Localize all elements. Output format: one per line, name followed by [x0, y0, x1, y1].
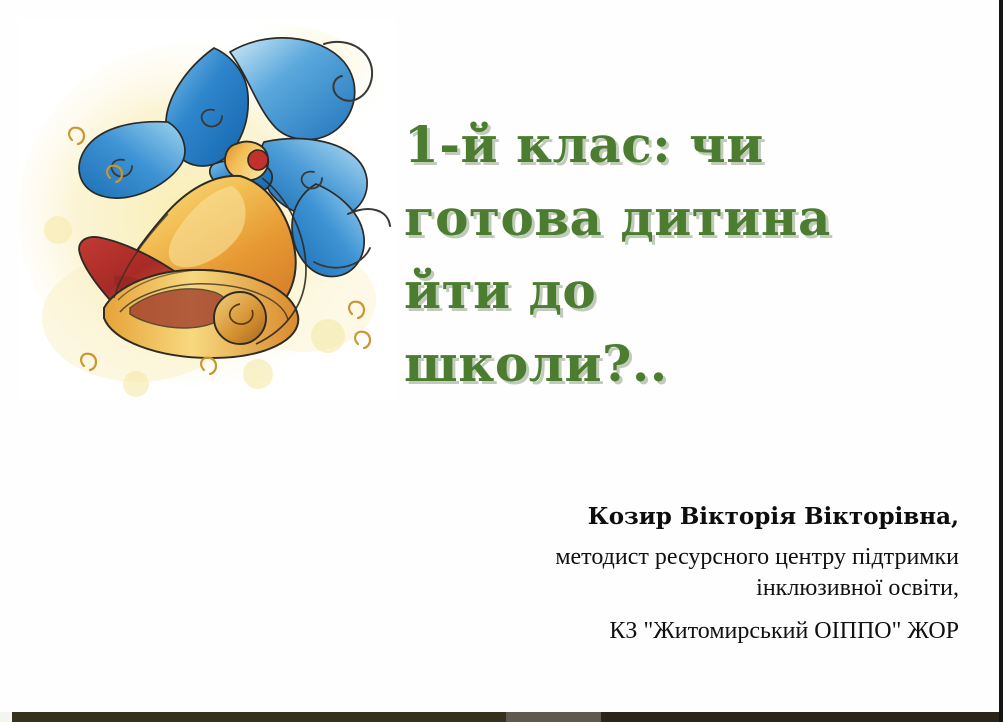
author-name: Козир Вікторія Вікторівна,: [379, 500, 959, 534]
slide-right-border: [999, 0, 1003, 722]
title-line-1: 1-й клас: чи: [404, 108, 960, 181]
author-role-line-1: методист ресурсного центру підтримки: [379, 542, 959, 573]
title-line-3: йти до: [404, 254, 960, 327]
presentation-title-slide: 1-й клас: чи готова дитина йти до школи?…: [0, 0, 1003, 722]
bottom-bar-segment-left: [0, 712, 12, 722]
bottom-bar-segment-dark-b: [601, 712, 1003, 722]
title-line-2: готова дитина: [404, 181, 960, 254]
bottom-bar-segment-dark-a: [12, 712, 506, 722]
bottom-accent-bar: [0, 712, 1003, 722]
author-role-line-2: інклюзивної освіти,: [379, 573, 959, 604]
author-organization: КЗ "Житомирський ОІППО" ЖОР: [379, 616, 959, 647]
school-bell-illustration: [18, 18, 396, 400]
author-affiliation-block: Козир Вікторія Вікторівна, методист ресу…: [379, 500, 959, 647]
title-line-4: школи?..: [404, 327, 960, 400]
bottom-bar-segment-light: [506, 712, 601, 722]
page-title: 1-й клас: чи готова дитина йти до школи?…: [404, 108, 960, 400]
